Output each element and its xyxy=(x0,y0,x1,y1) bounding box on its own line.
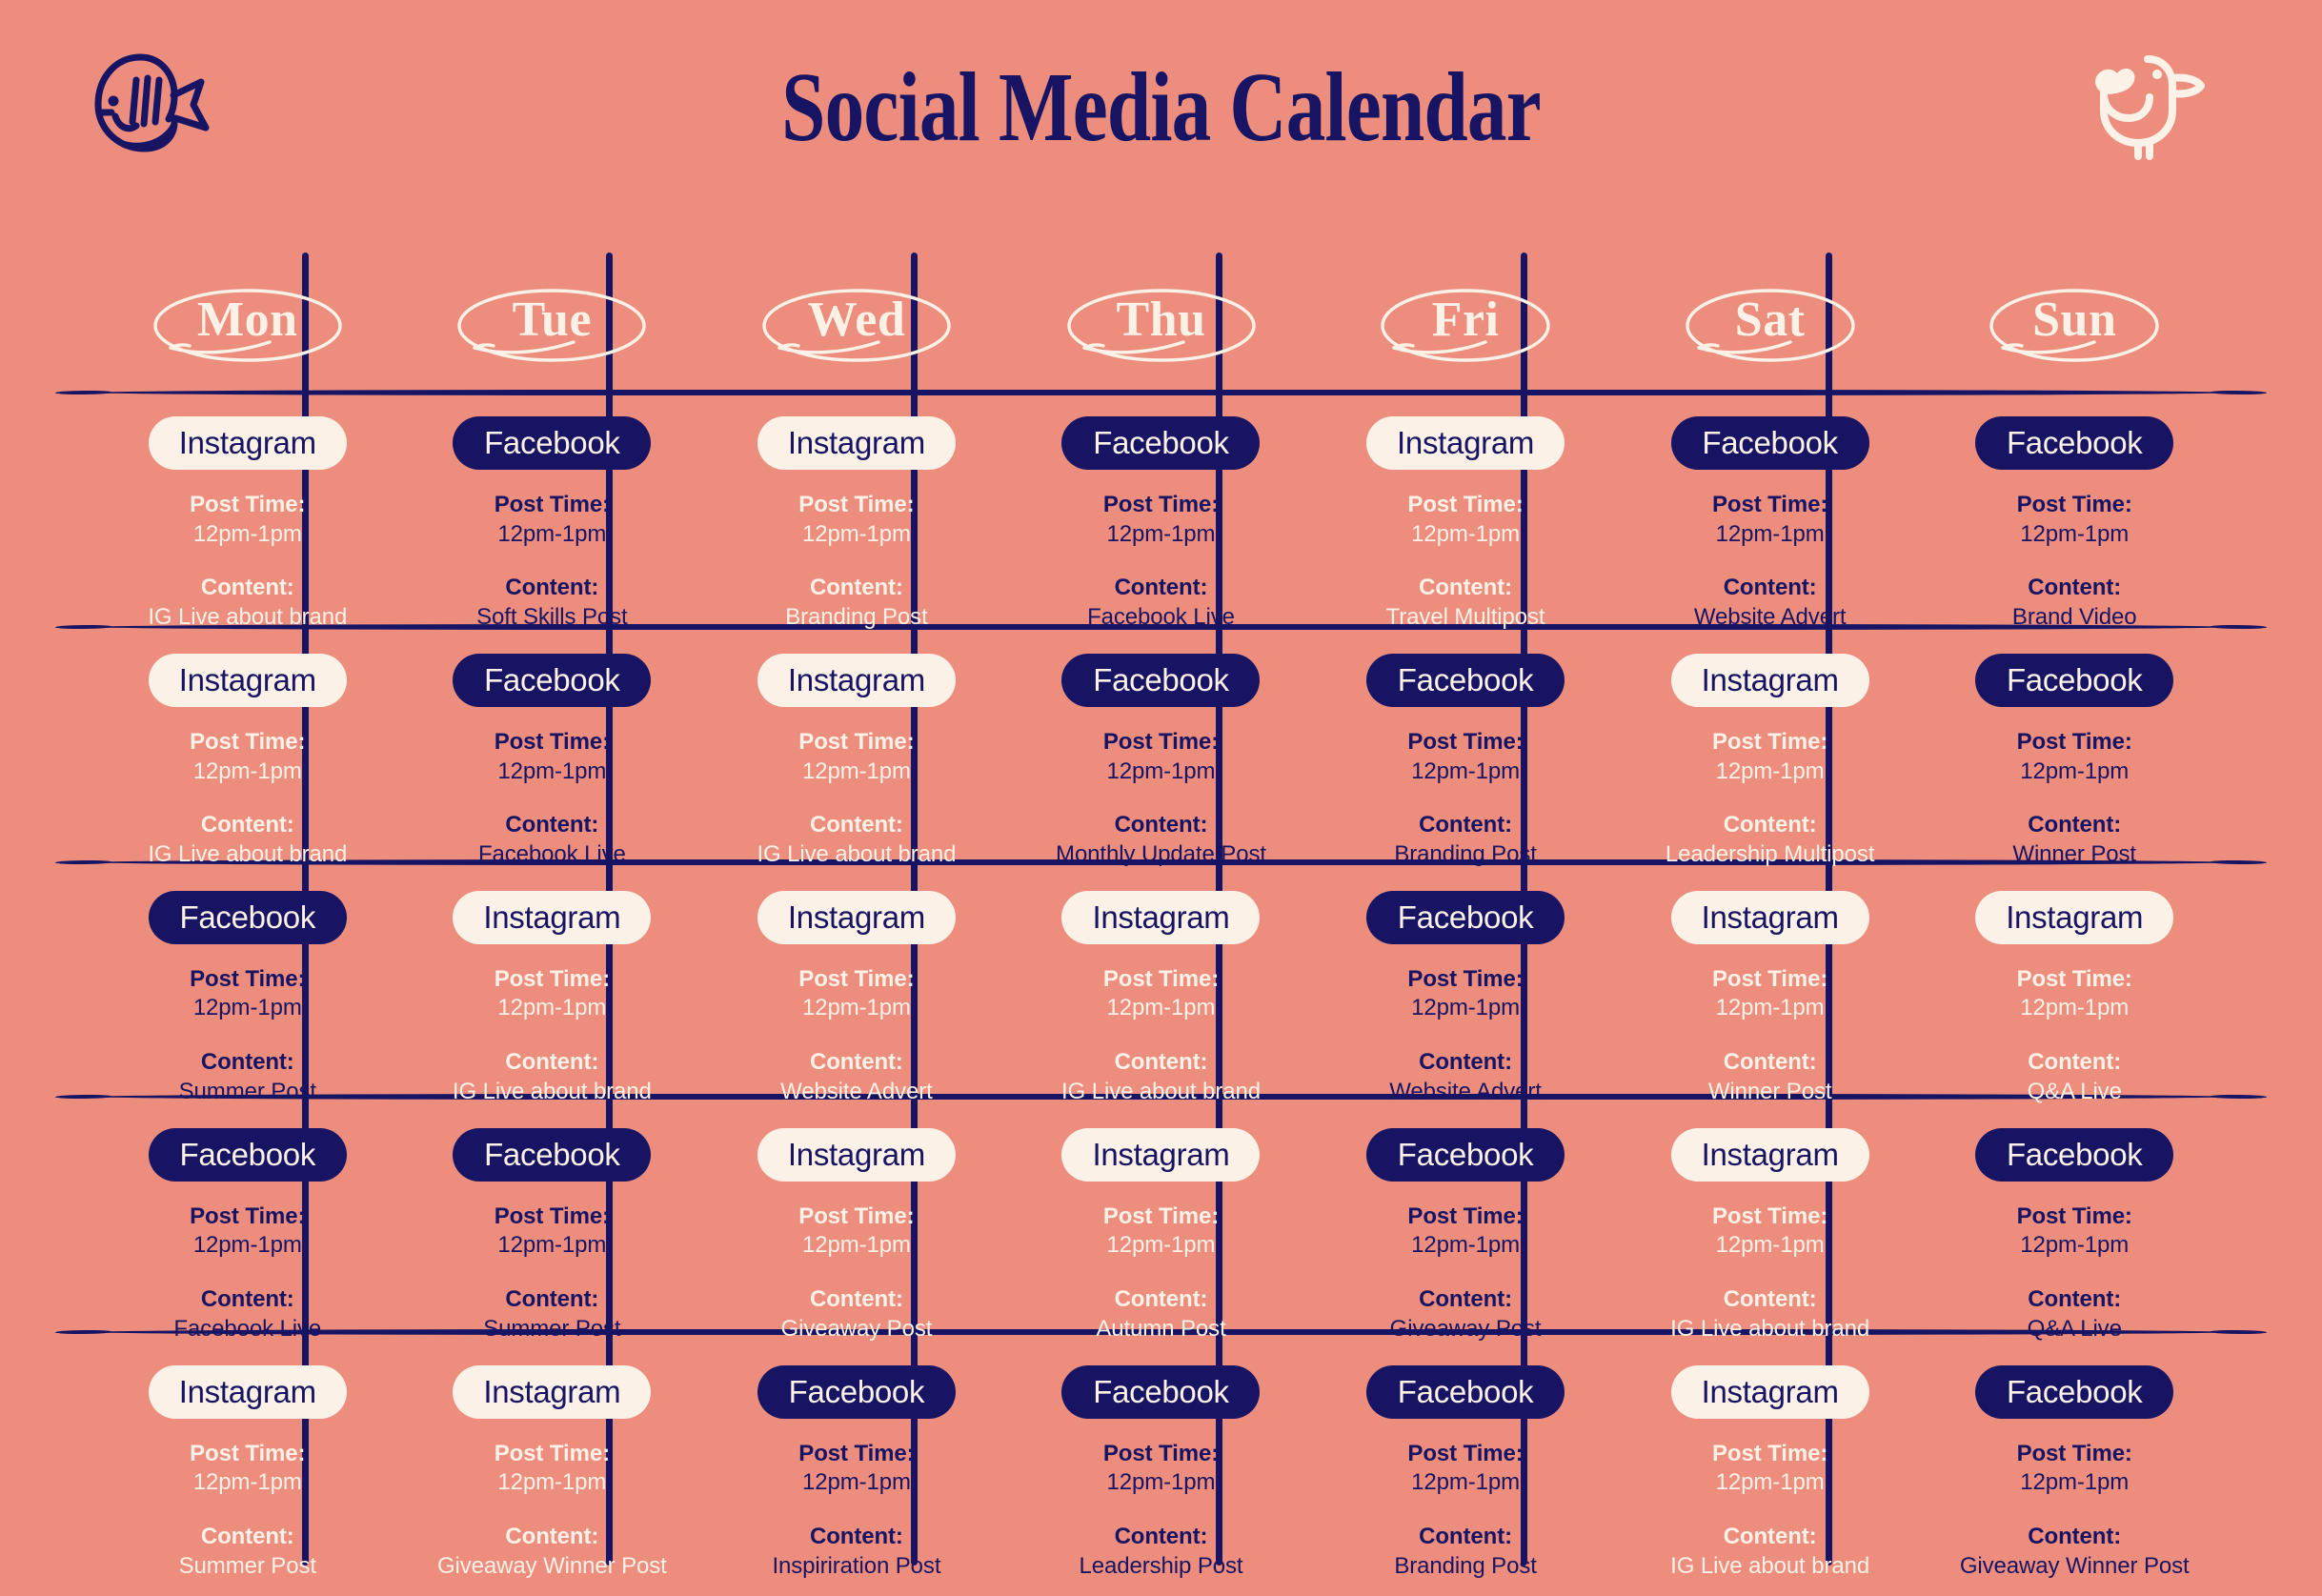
platform-badge[interactable]: Facebook xyxy=(1975,1128,2173,1182)
content-value: Giveaway Post xyxy=(781,1315,933,1344)
calendar-cell[interactable]: Facebook Post Time: 12pm-1pm Content: Q&… xyxy=(1922,1107,2227,1344)
content-label: Content: xyxy=(1080,1523,1243,1552)
post-time-value: 12pm-1pm xyxy=(1390,1231,1542,1261)
content-label: Content: xyxy=(478,811,626,840)
post-time-label: Post Time: xyxy=(148,491,347,520)
content-value: Facebook Live xyxy=(173,1315,321,1344)
content-label: Content: xyxy=(437,1523,667,1552)
platform-badge[interactable]: Facebook xyxy=(1366,654,1565,707)
post-time-label: Post Time: xyxy=(785,491,927,520)
calendar-cell[interactable]: Facebook Post Time: 12pm-1pm Content: So… xyxy=(400,395,705,633)
cell-meta: Post Time: 12pm-1pm Content: Summer Post xyxy=(179,1440,316,1582)
calendar-cell[interactable]: Facebook Post Time: 12pm-1pm Content: In… xyxy=(704,1344,1009,1582)
content-label: Content: xyxy=(1056,811,1266,840)
cell-meta: Post Time: 12pm-1pm Content: Brand Video xyxy=(2012,491,2137,633)
post-time-label: Post Time: xyxy=(148,728,347,758)
content-label: Content: xyxy=(780,1048,933,1078)
post-time-label: Post Time: xyxy=(2012,728,2136,758)
platform-badge[interactable]: Instagram xyxy=(149,416,347,470)
platform-badge[interactable]: Facebook xyxy=(757,1365,956,1419)
calendar-cell[interactable]: Instagram Post Time: 12pm-1pm Content: Q… xyxy=(1922,870,2227,1107)
content-value: Giveaway Post xyxy=(1390,1315,1542,1344)
content-value: IG Live about brand xyxy=(1670,1315,1869,1344)
content-label: Content: xyxy=(1087,574,1235,603)
cell-meta: Post Time: 12pm-1pm Content: Facebook Li… xyxy=(1087,491,1235,633)
platform-badge[interactable]: Facebook xyxy=(1366,891,1565,944)
post-time-label: Post Time: xyxy=(453,965,652,995)
calendar-cell[interactable]: Instagram Post Time: 12pm-1pm Content: I… xyxy=(704,633,1009,870)
cell-meta: Post Time: 12pm-1pm Content: Monthly Upd… xyxy=(1056,728,1266,870)
content-label: Content: xyxy=(781,1285,933,1315)
post-time-label: Post Time: xyxy=(1386,491,1545,520)
platform-badge[interactable]: Instagram xyxy=(757,1128,956,1182)
post-time-value: 12pm-1pm xyxy=(179,1468,316,1498)
content-value: Brand Video xyxy=(2012,603,2137,633)
content-value: Website Advert xyxy=(1389,1078,1542,1107)
content-label: Content: xyxy=(2017,1048,2132,1078)
content-label: Content: xyxy=(1394,811,1536,840)
calendar-cell[interactable]: Instagram Post Time: 12pm-1pm Content: I… xyxy=(1618,1344,1923,1582)
post-time-value: 12pm-1pm xyxy=(148,520,347,550)
platform-badge[interactable]: Facebook xyxy=(453,416,651,470)
post-time-value: 12pm-1pm xyxy=(757,758,956,787)
content-value: Summer Post xyxy=(483,1315,620,1344)
post-time-label: Post Time: xyxy=(437,1440,667,1469)
bird-icon xyxy=(2079,42,2217,161)
content-value: Website Advert xyxy=(780,1078,933,1107)
calendar-cell[interactable]: Instagram Post Time: 12pm-1pm Content: I… xyxy=(1009,870,1314,1107)
post-time-label: Post Time: xyxy=(1080,1440,1243,1469)
fish-icon xyxy=(81,46,214,160)
day-label: Fri xyxy=(1432,292,1500,348)
post-time-label: Post Time: xyxy=(780,965,933,995)
post-time-label: Post Time: xyxy=(1670,1202,1869,1232)
post-time-label: Post Time: xyxy=(2012,491,2137,520)
platform-badge[interactable]: Instagram xyxy=(1671,891,1869,944)
post-time-value: 12pm-1pm xyxy=(179,994,316,1023)
content-label: Content: xyxy=(785,574,927,603)
calendar-cell[interactable]: Instagram Post Time: 12pm-1pm Content: G… xyxy=(704,1107,1009,1344)
calendar-cell[interactable]: Instagram Post Time: 12pm-1pm Content: I… xyxy=(1618,1107,1923,1344)
post-time-label: Post Time: xyxy=(483,1202,620,1232)
post-time-value: 12pm-1pm xyxy=(453,994,652,1023)
content-label: Content: xyxy=(1694,574,1847,603)
post-time-label: Post Time: xyxy=(1666,728,1874,758)
calendar-cell[interactable]: Instagram Post Time: 12pm-1pm Content: W… xyxy=(1618,870,1923,1107)
post-time-label: Post Time: xyxy=(173,1202,321,1232)
calendar-cell[interactable]: Instagram Post Time: 12pm-1pm Content: I… xyxy=(95,395,400,633)
content-value: Travel Multipost xyxy=(1386,603,1545,633)
post-time-value: 12pm-1pm xyxy=(173,1231,321,1261)
cell-meta: Post Time: 12pm-1pm Content: Leadership … xyxy=(1666,728,1874,870)
calendar-cell[interactable]: Instagram Post Time: 12pm-1pm Content: B… xyxy=(704,395,1009,633)
cell-meta: Post Time: 12pm-1pm Content: Summer Post xyxy=(483,1202,620,1344)
post-time-value: 12pm-1pm xyxy=(772,1468,940,1498)
post-time-label: Post Time: xyxy=(1670,1440,1869,1469)
content-value: Q&A Live xyxy=(2017,1315,2132,1344)
calendar-cell[interactable]: Facebook Post Time: 12pm-1pm Content: Br… xyxy=(1922,395,2227,633)
cell-meta: Post Time: 12pm-1pm Content: Autumn Post xyxy=(1096,1202,1225,1344)
post-time-value: 12pm-1pm xyxy=(2012,758,2136,787)
cell-meta: Post Time: 12pm-1pm Content: Soft Skills… xyxy=(476,491,627,633)
calendar-cell[interactable]: Facebook Post Time: 12pm-1pm Content: Fa… xyxy=(400,633,705,870)
post-time-value: 12pm-1pm xyxy=(1670,1468,1869,1498)
content-value: Branding Post xyxy=(1394,1552,1536,1582)
cell-meta: Post Time: 12pm-1pm Content: Giveaway Wi… xyxy=(437,1440,667,1582)
content-value: Winner Post xyxy=(1708,1078,1832,1107)
content-label: Content: xyxy=(179,1048,316,1078)
calendar-cell[interactable]: Instagram Post Time: 12pm-1pm Content: I… xyxy=(95,633,400,870)
platform-badge[interactable]: Instagram xyxy=(1975,891,2173,944)
cell-meta: Post Time: 12pm-1pm Content: IG Live abo… xyxy=(1670,1202,1869,1344)
post-time-value: 12pm-1pm xyxy=(1708,994,1832,1023)
post-time-label: Post Time: xyxy=(1389,965,1542,995)
post-time-value: 12pm-1pm xyxy=(785,520,927,550)
platform-badge[interactable]: Instagram xyxy=(1061,891,1260,944)
platform-badge[interactable]: Facebook xyxy=(149,1128,347,1182)
content-label: Content: xyxy=(1386,574,1545,603)
post-time-label: Post Time: xyxy=(478,728,626,758)
post-time-label: Post Time: xyxy=(1056,728,1266,758)
platform-badge[interactable]: Instagram xyxy=(453,891,651,944)
cell-meta: Post Time: 12pm-1pm Content: Giveaway Wi… xyxy=(1960,1440,2190,1582)
cell-meta: Post Time: 12pm-1pm Content: Summer Post xyxy=(179,965,316,1107)
post-time-value: 12pm-1pm xyxy=(1386,520,1545,550)
content-value: IG Live about brand xyxy=(148,840,347,870)
content-label: Content: xyxy=(757,811,956,840)
post-time-label: Post Time: xyxy=(1960,1440,2190,1469)
content-label: Content: xyxy=(453,1048,652,1078)
content-value: IG Live about brand xyxy=(1670,1552,1869,1582)
content-label: Content: xyxy=(2017,1285,2132,1315)
platform-badge[interactable]: Facebook xyxy=(453,654,651,707)
cell-meta: Post Time: 12pm-1pm Content: Giveaway Po… xyxy=(1390,1202,1542,1344)
cell-meta: Post Time: 12pm-1pm Content: Branding Po… xyxy=(1394,728,1536,870)
cell-meta: Post Time: 12pm-1pm Content: Q&A Live xyxy=(2017,1202,2132,1344)
content-label: Content: xyxy=(179,1523,316,1552)
post-time-value: 12pm-1pm xyxy=(148,758,347,787)
post-time-value: 12pm-1pm xyxy=(483,1231,620,1261)
platform-badge[interactable]: Facebook xyxy=(1366,1128,1565,1182)
post-time-label: Post Time: xyxy=(2017,1202,2132,1232)
cell-meta: Post Time: 12pm-1pm Content: IG Live abo… xyxy=(1061,965,1261,1107)
social-media-calendar-page: Social Media Calendar xyxy=(0,0,2322,1596)
post-time-label: Post Time: xyxy=(781,1202,933,1232)
post-time-value: 12pm-1pm xyxy=(1694,520,1847,550)
calendar-cell[interactable]: Instagram Post Time: 12pm-1pm Content: A… xyxy=(1009,1107,1314,1344)
calendar-cell[interactable]: Facebook Post Time: 12pm-1pm Content: Le… xyxy=(1009,1344,1314,1582)
content-value: Monthly Update Post xyxy=(1056,840,1266,870)
page-header: Social Media Calendar xyxy=(0,0,2322,181)
post-time-label: Post Time: xyxy=(1390,1202,1542,1232)
content-value: Leadership Post xyxy=(1080,1552,1243,1582)
platform-badge[interactable]: Instagram xyxy=(149,654,347,707)
platform-badge[interactable]: Instagram xyxy=(757,654,956,707)
content-value: Branding Post xyxy=(785,603,927,633)
post-time-value: 12pm-1pm xyxy=(1096,1231,1225,1261)
platform-badge[interactable]: Instagram xyxy=(1671,1365,1869,1419)
post-time-value: 12pm-1pm xyxy=(1080,1468,1243,1498)
content-label: Content: xyxy=(2012,811,2136,840)
calendar-cell[interactable]: Instagram Post Time: 12pm-1pm Content: I… xyxy=(400,870,705,1107)
post-time-value: 12pm-1pm xyxy=(1087,520,1235,550)
cell-meta: Post Time: 12pm-1pm Content: Inspirirati… xyxy=(772,1440,940,1582)
cell-meta: Post Time: 12pm-1pm Content: Website Adv… xyxy=(1694,491,1847,633)
platform-badge[interactable]: Instagram xyxy=(453,1365,651,1419)
day-label: Sun xyxy=(2032,292,2116,348)
content-value: Giveaway Winner Post xyxy=(437,1552,667,1582)
content-value: Q&A Live xyxy=(2017,1078,2132,1107)
cell-meta: Post Time: 12pm-1pm Content: Website Adv… xyxy=(1389,965,1542,1107)
calendar-cell[interactable]: Facebook Post Time: 12pm-1pm Content: Fa… xyxy=(95,1107,400,1344)
post-time-value: 12pm-1pm xyxy=(1666,758,1874,787)
post-time-value: 12pm-1pm xyxy=(1670,1231,1869,1261)
content-value: Inspiriration Post xyxy=(772,1552,940,1582)
content-value: Website Advert xyxy=(1694,603,1847,633)
content-label: Content: xyxy=(1666,811,1874,840)
content-label: Content: xyxy=(1708,1048,1832,1078)
day-label: Tue xyxy=(513,292,592,348)
cell-meta: Post Time: 12pm-1pm Content: Facebook Li… xyxy=(478,728,626,870)
post-time-label: Post Time: xyxy=(1708,965,1832,995)
calendar-cell[interactable]: Facebook Post Time: 12pm-1pm Content: Su… xyxy=(400,1107,705,1344)
content-value: IG Live about brand xyxy=(148,603,347,633)
content-label: Content: xyxy=(173,1285,321,1315)
post-time-label: Post Time: xyxy=(1096,1202,1225,1232)
calendar-cell[interactable]: Instagram Post Time: 12pm-1pm Content: L… xyxy=(1618,633,1923,870)
content-value: Facebook Live xyxy=(1087,603,1235,633)
content-value: Autumn Post xyxy=(1096,1315,1225,1344)
content-label: Content: xyxy=(1670,1285,1869,1315)
day-label: Wed xyxy=(808,292,906,348)
platform-badge[interactable]: Facebook xyxy=(1975,1365,2173,1419)
content-label: Content: xyxy=(1670,1523,1869,1552)
cell-meta: Post Time: 12pm-1pm Content: IG Live abo… xyxy=(148,491,347,633)
cell-meta: Post Time: 12pm-1pm Content: IG Live abo… xyxy=(757,728,956,870)
platform-badge[interactable]: Facebook xyxy=(149,891,347,944)
day-label: Sat xyxy=(1735,292,1806,348)
platform-badge[interactable]: Instagram xyxy=(757,891,956,944)
platform-badge[interactable]: Facebook xyxy=(1975,654,2173,707)
platform-badge[interactable]: Instagram xyxy=(149,1365,347,1419)
calendar-cell[interactable]: Facebook Post Time: 12pm-1pm Content: Br… xyxy=(1313,1344,1618,1582)
content-label: Content: xyxy=(1960,1523,2190,1552)
post-time-value: 12pm-1pm xyxy=(2017,1231,2132,1261)
calendar-cell[interactable]: Instagram Post Time: 12pm-1pm Content: T… xyxy=(1313,395,1618,633)
cell-meta: Post Time: 12pm-1pm Content: Q&A Live xyxy=(2017,965,2132,1107)
post-time-value: 12pm-1pm xyxy=(1056,758,1266,787)
day-label: Thu xyxy=(1117,292,1206,348)
calendar-cell[interactable]: Facebook Post Time: 12pm-1pm Content: Mo… xyxy=(1009,633,1314,870)
post-time-value: 12pm-1pm xyxy=(1394,1468,1536,1498)
cell-meta: Post Time: 12pm-1pm Content: Giveaway Po… xyxy=(781,1202,933,1344)
post-time-label: Post Time: xyxy=(772,1440,940,1469)
calendar-cell[interactable]: Facebook Post Time: 12pm-1pm Content: Gi… xyxy=(1313,1107,1618,1344)
cell-meta: Post Time: 12pm-1pm Content: IG Live abo… xyxy=(148,728,347,870)
post-time-value: 12pm-1pm xyxy=(1389,994,1542,1023)
cell-meta: Post Time: 12pm-1pm Content: Winner Post xyxy=(1708,965,1832,1107)
post-time-label: Post Time: xyxy=(1061,965,1261,995)
calendar-cell[interactable]: Facebook Post Time: 12pm-1pm Content: Fa… xyxy=(1009,395,1314,633)
content-label: Content: xyxy=(2012,574,2137,603)
content-label: Content: xyxy=(483,1285,620,1315)
content-label: Content: xyxy=(1390,1285,1542,1315)
calendar-cell[interactable]: Facebook Post Time: 12pm-1pm Content: Su… xyxy=(95,870,400,1107)
cell-meta: Post Time: 12pm-1pm Content: Winner Post xyxy=(2012,728,2136,870)
calendar-cells: Instagram Post Time: 12pm-1pm Content: I… xyxy=(95,267,2227,1572)
cell-meta: Post Time: 12pm-1pm Content: Facebook Li… xyxy=(173,1202,321,1344)
calendar-cell[interactable]: Instagram Post Time: 12pm-1pm Content: W… xyxy=(704,870,1009,1107)
platform-badge[interactable]: Instagram xyxy=(1061,1128,1260,1182)
content-value: Soft Skills Post xyxy=(476,603,627,633)
post-time-value: 12pm-1pm xyxy=(1061,994,1261,1023)
content-value: Summer Post xyxy=(179,1078,316,1107)
post-time-label: Post Time: xyxy=(476,491,627,520)
cell-meta: Post Time: 12pm-1pm Content: Branding Po… xyxy=(785,491,927,633)
platform-badge[interactable]: Facebook xyxy=(1975,416,2173,470)
post-time-label: Post Time: xyxy=(1394,1440,1536,1469)
post-time-label: Post Time: xyxy=(1087,491,1235,520)
post-time-value: 12pm-1pm xyxy=(476,520,627,550)
cell-meta: Post Time: 12pm-1pm Content: Leadership … xyxy=(1080,1440,1243,1582)
post-time-value: 12pm-1pm xyxy=(2017,994,2132,1023)
content-value: Winner Post xyxy=(2012,840,2136,870)
content-label: Content: xyxy=(1061,1048,1261,1078)
page-title: Social Media Calendar xyxy=(232,55,2090,159)
cell-meta: Post Time: 12pm-1pm Content: Branding Po… xyxy=(1394,1440,1536,1582)
platform-badge[interactable]: Facebook xyxy=(1061,1365,1260,1419)
content-value: IG Live about brand xyxy=(453,1078,652,1107)
content-label: Content: xyxy=(476,574,627,603)
content-value: Leadership Multipost xyxy=(1666,840,1874,870)
platform-badge[interactable]: Instagram xyxy=(1671,654,1869,707)
post-time-label: Post Time: xyxy=(179,1440,316,1469)
post-time-label: Post Time: xyxy=(757,728,956,758)
platform-badge[interactable]: Facebook xyxy=(1366,1365,1565,1419)
content-value: Facebook Live xyxy=(478,840,626,870)
cell-meta: Post Time: 12pm-1pm Content: Travel Mult… xyxy=(1386,491,1545,633)
content-label: Content: xyxy=(1394,1523,1536,1552)
calendar-cell[interactable]: Facebook Post Time: 12pm-1pm Content: Br… xyxy=(1313,633,1618,870)
content-value: Branding Post xyxy=(1394,840,1536,870)
cell-meta: Post Time: 12pm-1pm Content: IG Live abo… xyxy=(453,965,652,1107)
content-label: Content: xyxy=(148,811,347,840)
platform-badge[interactable]: Facebook xyxy=(1061,416,1260,470)
content-value: IG Live about brand xyxy=(757,840,956,870)
calendar-cell[interactable]: Facebook Post Time: 12pm-1pm Content: Gi… xyxy=(1922,1344,2227,1582)
post-time-value: 12pm-1pm xyxy=(781,1231,933,1261)
content-label: Content: xyxy=(148,574,347,603)
content-label: Content: xyxy=(1389,1048,1542,1078)
content-value: Summer Post xyxy=(179,1552,316,1582)
calendar-cell[interactable]: Facebook Post Time: 12pm-1pm Content: Wi… xyxy=(1922,633,2227,870)
calendar-cell[interactable]: Facebook Post Time: 12pm-1pm Content: We… xyxy=(1618,395,1923,633)
post-time-value: 12pm-1pm xyxy=(2012,520,2137,550)
content-value: Giveaway Winner Post xyxy=(1960,1552,2190,1582)
post-time-label: Post Time: xyxy=(1394,728,1536,758)
content-label: Content: xyxy=(1096,1285,1225,1315)
platform-badge[interactable]: Instagram xyxy=(1671,1128,1869,1182)
cell-meta: Post Time: 12pm-1pm Content: IG Live abo… xyxy=(1670,1440,1869,1582)
platform-badge[interactable]: Facebook xyxy=(1671,416,1869,470)
platform-badge[interactable]: Instagram xyxy=(1366,416,1565,470)
post-time-value: 12pm-1pm xyxy=(437,1468,667,1498)
post-time-label: Post Time: xyxy=(1694,491,1847,520)
post-time-value: 12pm-1pm xyxy=(1960,1468,2190,1498)
content-value: IG Live about brand xyxy=(1061,1078,1261,1107)
calendar-cell[interactable]: Instagram Post Time: 12pm-1pm Content: G… xyxy=(400,1344,705,1582)
post-time-value: 12pm-1pm xyxy=(1394,758,1536,787)
platform-badge[interactable]: Facebook xyxy=(453,1128,651,1182)
calendar-cell[interactable]: Instagram Post Time: 12pm-1pm Content: S… xyxy=(95,1344,400,1582)
post-time-label: Post Time: xyxy=(2017,965,2132,995)
calendar-cell[interactable]: Facebook Post Time: 12pm-1pm Content: We… xyxy=(1313,870,1618,1107)
post-time-value: 12pm-1pm xyxy=(780,994,933,1023)
post-time-value: 12pm-1pm xyxy=(478,758,626,787)
content-label: Content: xyxy=(772,1523,940,1552)
platform-badge[interactable]: Instagram xyxy=(757,416,956,470)
day-label: Mon xyxy=(197,292,298,348)
platform-badge[interactable]: Facebook xyxy=(1061,654,1260,707)
post-time-label: Post Time: xyxy=(179,965,316,995)
cell-meta: Post Time: 12pm-1pm Content: Website Adv… xyxy=(780,965,933,1107)
